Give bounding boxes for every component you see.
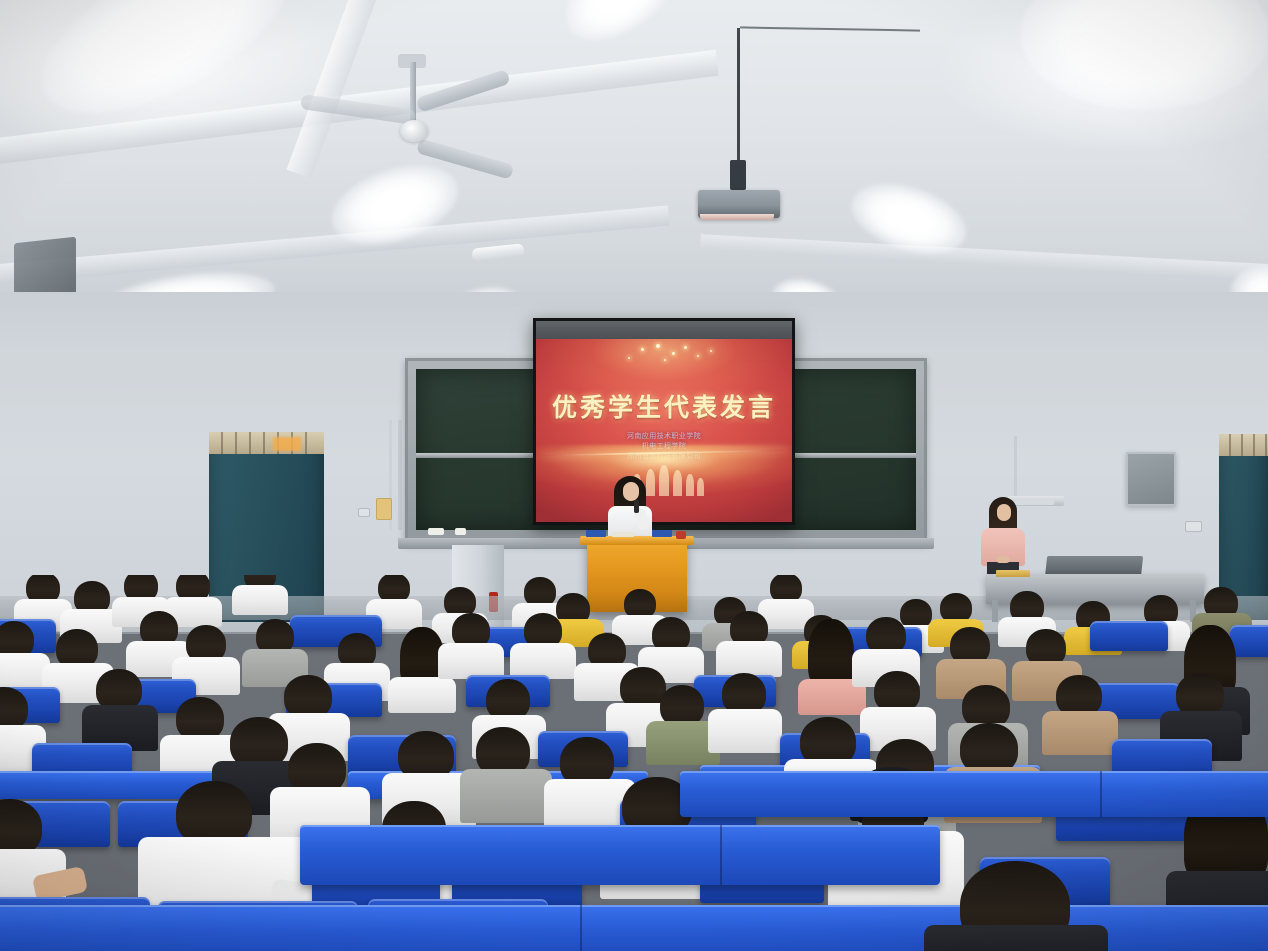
mount-rod [1014, 436, 1017, 496]
projector-cable [737, 28, 740, 168]
wall-trim [1014, 500, 1054, 505]
audience-torso [924, 925, 1108, 951]
audience-torso [716, 641, 782, 677]
podium-item [676, 531, 686, 539]
slide-figure-silhouette [697, 478, 704, 496]
seat-desk-surface[interactable] [680, 771, 1268, 817]
chalk-stick [455, 528, 466, 535]
projection-screen: 优秀学生代表发言 河南应用技术职业学院 机电工程学院 郑州恒敦科技有限公司 [533, 318, 795, 525]
audience-torso [708, 709, 782, 753]
wall-conduit [398, 420, 402, 530]
wall-outlet[interactable] [358, 508, 370, 517]
slide-figure-silhouette [686, 474, 694, 496]
microphone [634, 500, 639, 513]
presentation-slide: 优秀学生代表发言 河南应用技术职业学院 机电工程学院 郑州恒敦科技有限公司 [536, 339, 792, 522]
corridor-light-glow [273, 437, 301, 451]
wall-outlet[interactable] [1185, 521, 1202, 532]
wall-switch-panel[interactable] [376, 498, 392, 520]
slide-figure-silhouette [659, 465, 669, 496]
projector-lens [700, 214, 774, 220]
podium-item [652, 530, 672, 537]
audience-seating [0, 575, 1268, 951]
slide-figure-silhouette [673, 470, 682, 496]
lecture-hall-photo: 优秀学生代表发言 河南应用技术职业学院 机电工程学院 郑州恒敦科技有限公司 [0, 0, 1268, 951]
audience-torso [438, 643, 504, 679]
projector-mount-arm [730, 160, 746, 190]
slide-figure-silhouette [646, 469, 655, 496]
ceiling-beam [287, 0, 380, 178]
audience-torso [1042, 711, 1118, 755]
ceiling-beam [700, 234, 1268, 281]
slide-subtitle-line-1: 河南应用技术职业学院 [536, 432, 792, 442]
audience-torso [510, 643, 576, 679]
chalk-eraser [428, 528, 444, 535]
staff-hands [996, 556, 1010, 563]
audience-torso [388, 677, 456, 713]
presenter-face [623, 482, 639, 501]
seat-back[interactable] [1230, 625, 1268, 657]
door-transom-window-left [209, 432, 324, 454]
slide-title: 优秀学生代表发言 [536, 388, 792, 424]
staff-face [997, 504, 1011, 521]
podium-item [586, 530, 606, 537]
ceiling-fan-hub [400, 120, 428, 142]
wall-notice-frame [1126, 452, 1176, 506]
door-transom-window-right [1219, 434, 1268, 456]
podium-paper [612, 532, 634, 537]
front-desk-surface[interactable] [300, 825, 940, 885]
screen-letterbox-band [536, 321, 792, 339]
audience-torso [232, 585, 288, 615]
seat-back[interactable] [1090, 621, 1168, 651]
